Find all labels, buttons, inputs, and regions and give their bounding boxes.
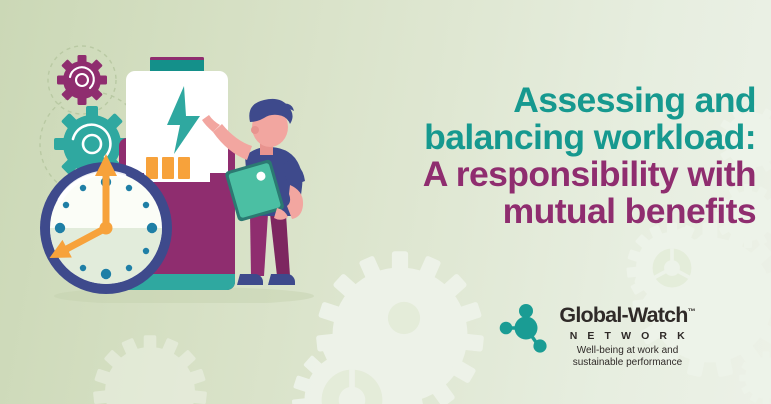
molecule-node-icon xyxy=(498,302,556,354)
promo-banner: Assessing and balancing workload: A resp… xyxy=(0,0,771,404)
clock-center-pin xyxy=(100,222,113,235)
page-title: Assessing and balancing workload: A resp… xyxy=(316,82,756,230)
logo-tagline: Well-being at work and sustainable perfo… xyxy=(552,345,703,368)
person-leg-front xyxy=(250,214,268,276)
person-shoe-front xyxy=(237,274,263,285)
title-line-1: Assessing and xyxy=(316,82,756,119)
battery-cap xyxy=(150,60,204,71)
workload-illustration xyxy=(34,38,334,303)
title-line-3: A responsibility with xyxy=(316,156,756,193)
trademark-symbol: ™ xyxy=(688,307,696,316)
title-line-2: balancing workload: xyxy=(316,119,756,156)
title-line-4: mutual benefits xyxy=(316,193,756,230)
gear-icon-purple xyxy=(57,55,107,105)
logo-tagline-line-1: Well-being at work and xyxy=(552,345,703,357)
logo-wordmark-text: Global-Watch xyxy=(559,303,687,327)
logo-network-label: N E T W O R K xyxy=(555,329,703,343)
person-ear xyxy=(251,126,259,134)
logo-wordmark: Global-Watch™ xyxy=(552,299,703,328)
logo-tagline-line-2: sustainable performance xyxy=(552,357,703,369)
person-shoe-back xyxy=(268,274,295,285)
battery-level-bars xyxy=(146,157,190,179)
person-leg-back xyxy=(270,214,290,276)
global-watch-logo[interactable]: Global-Watch™ N E T W O R K Well-being a… xyxy=(498,299,703,371)
